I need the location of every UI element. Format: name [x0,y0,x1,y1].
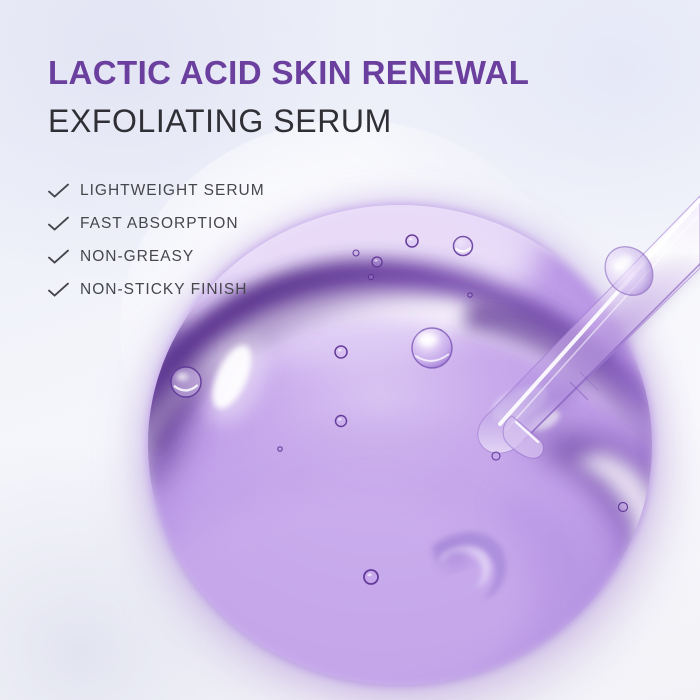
gel-shadow-left-edge [133,300,197,492]
gel-bubble [492,452,500,460]
page-title-line-1: LACTIC ACID SKIN RENEWAL [0,0,700,94]
dropper-tip-highlight [516,422,538,442]
gel-bubble [335,346,347,358]
dropper-inner-ring [570,382,588,400]
check-icon [46,182,72,200]
benefit-label: LIGHTWEIGHT SERUM [80,182,265,200]
benefit-item: NON-GREASY [46,240,700,273]
copy-block: LACTIC ACID SKIN RENEWAL EXFOLIATING SER… [0,0,700,306]
check-icon [46,215,72,233]
benefit-list: LIGHTWEIGHT SERUMFAST ABSORPTIONNON-GREA… [0,141,700,306]
dropper-inner-ring-2 [580,372,598,390]
gel-vortex-highlight [440,546,490,588]
gel-bottom-rim-light [186,620,610,700]
dropper-tip [503,416,543,458]
gel-wash-lower [150,420,610,700]
gel-gloss-streak-left [204,340,259,414]
gel-bubble [171,367,201,397]
benefit-item: NON-STICKY FINISH [46,273,700,306]
check-icon [46,281,72,299]
gel-gloss-streak-left-soft [194,328,279,433]
benefit-label: NON-STICKY FINISH [80,281,247,299]
product-marketing-poster: LACTIC ACID SKIN RENEWAL EXFOLIATING SER… [0,0,700,700]
gel-rim-right-bright [572,452,661,610]
gel-swirl-right [462,300,681,534]
benefit-label: NON-GREASY [80,248,194,266]
gel-bubble [412,328,452,368]
gel-bubble [278,447,282,451]
page-title-line-2: EXFOLIATING SERUM [0,94,700,141]
gel-rim-highlight-band [116,286,654,504]
gel-ribbon-lower-right [500,498,598,680]
gel-vortex-core [438,542,475,571]
gel-bubble [619,503,628,512]
gel-gloss-dropper-tip [487,378,553,429]
gel-bubble [336,416,347,427]
gel-gloss-dropper-tip-2 [527,405,563,435]
check-icon [46,248,72,266]
benefit-item: FAST ABSORPTION [46,207,700,240]
gel-swirl-lower-right [528,430,681,646]
benefit-item: LIGHTWEIGHT SERUM [46,174,700,207]
gel-wash-lower-2 [150,490,530,700]
benefit-label: FAST ABSORPTION [80,215,239,233]
background-tint-bottom-left [0,440,320,700]
gel-bubble [364,570,378,584]
gel-vortex-swirl [432,532,506,600]
